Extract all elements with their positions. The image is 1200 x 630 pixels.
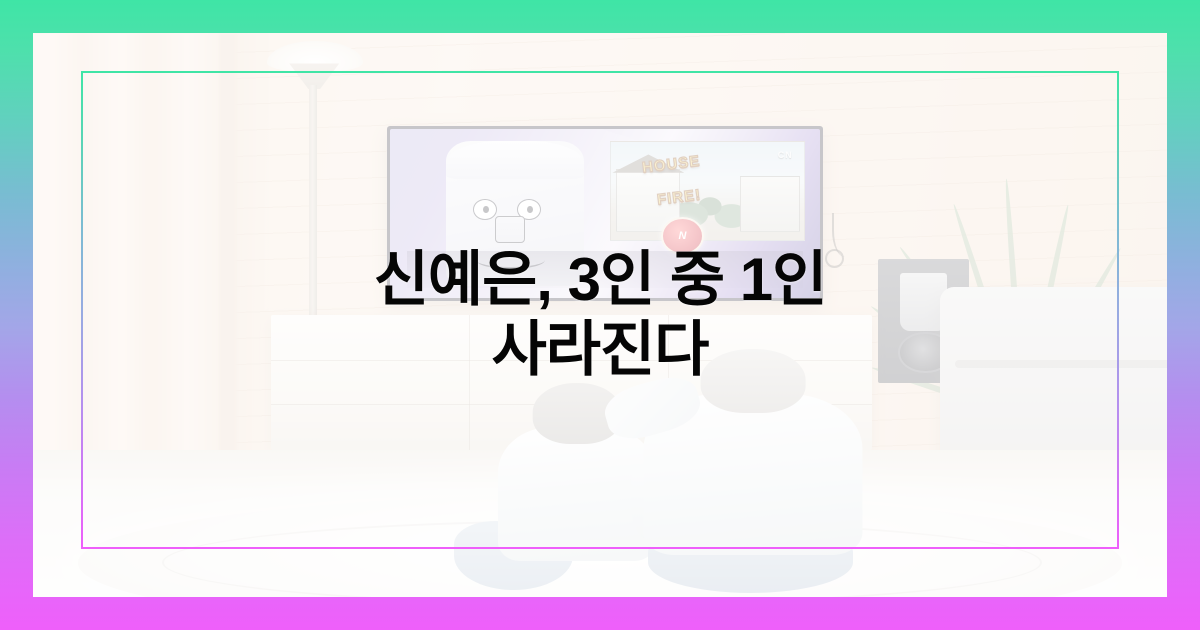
title-block: 신예은, 3인 중 1인 사라진다 (33, 33, 1167, 597)
card-mat: HOUSE FIRE! CN (33, 33, 1167, 597)
page-title-line-2: 사라진다 (492, 315, 709, 385)
thumbnail-card: HOUSE FIRE! CN (0, 0, 1200, 630)
page-title-line-1: 신예은, 3인 중 1인 (374, 245, 827, 315)
